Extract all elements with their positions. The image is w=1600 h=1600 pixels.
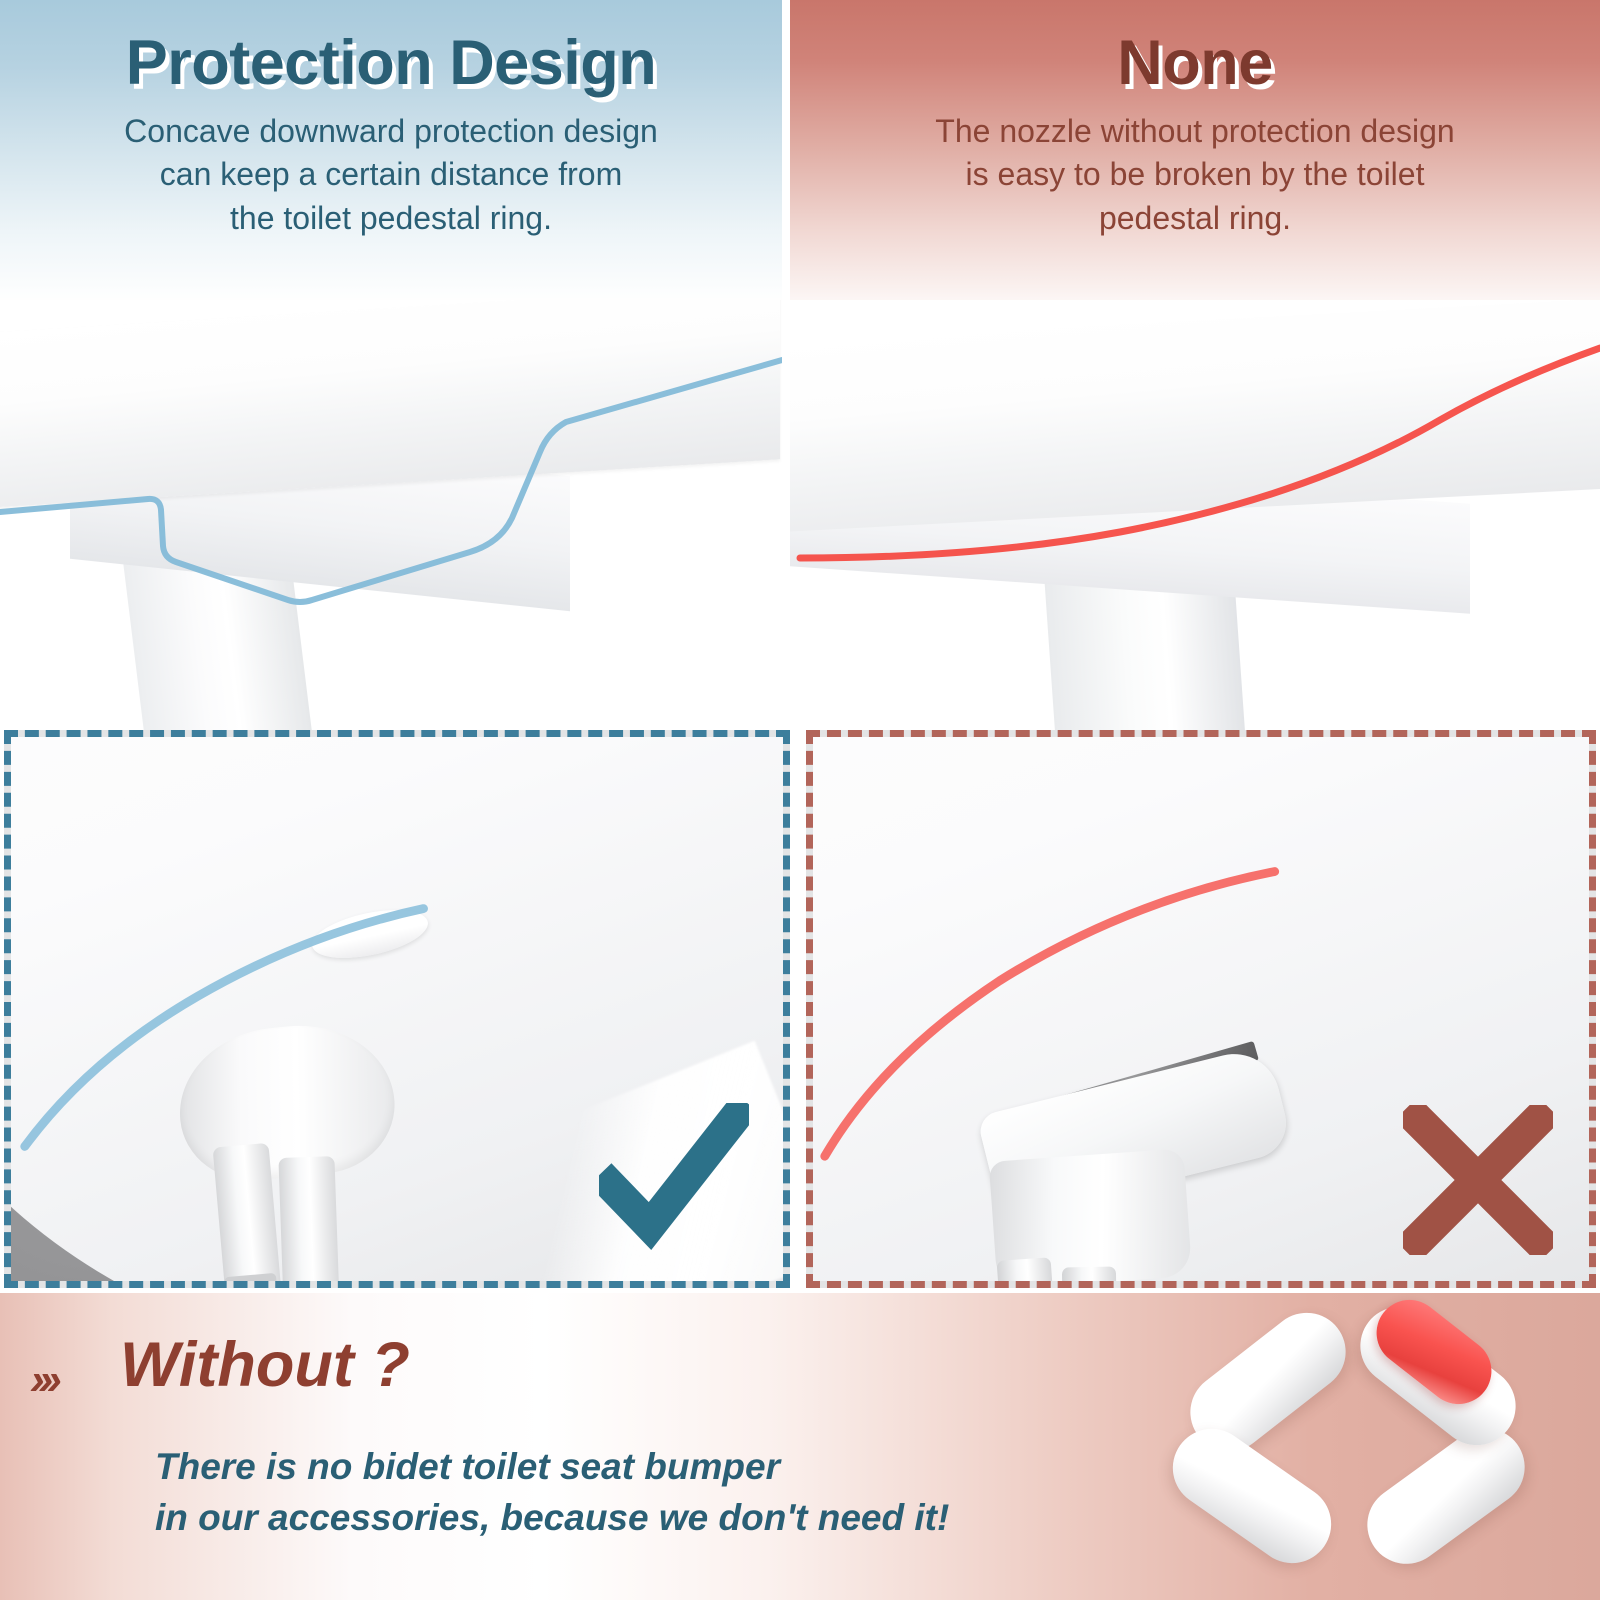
blue-notch-outline-icon [0, 300, 782, 730]
bottom-heading: Without ? [120, 1329, 410, 1401]
page-title-none: None [790, 30, 1600, 96]
detail-panel-with-protection [4, 730, 790, 1288]
header-row: Protection Design Concave downward prote… [0, 0, 1600, 305]
photo-seat-flat-red [790, 300, 1600, 730]
photo-seat-notch-blue [0, 300, 782, 730]
infographic-page: Protection Design Concave downward prote… [0, 0, 1600, 1600]
header-subtitle-line: Concave downward protection design [0, 110, 782, 153]
detail-comparison-row [0, 730, 1600, 1288]
header-panel-none: None The nozzle without protection desig… [790, 0, 1600, 305]
chevron-right-icon: ››› [30, 1355, 56, 1405]
red-edge-outline-icon [790, 300, 1600, 730]
header-subtitle-line: The nozzle without protection design [790, 110, 1600, 153]
bottom-body-line: in our accessories, because we don't nee… [155, 1492, 949, 1543]
header-subtitle-line: the toilet pedestal ring. [0, 197, 782, 240]
nozzle-tip-shape [287, 1284, 340, 1288]
product-photo-row [0, 300, 1600, 730]
page-title-protection-design: Protection Design [0, 30, 782, 96]
header-subtitle-line: pedestal ring. [790, 197, 1600, 240]
bumper-pads-cluster [1158, 1307, 1558, 1597]
bumper-pad [1352, 1413, 1540, 1580]
bottom-body-line: There is no bidet toilet seat bumper [155, 1441, 949, 1492]
header-subtitle-none: The nozzle without protection design is … [790, 110, 1600, 240]
bottom-body-text: There is no bidet toilet seat bumper in … [155, 1441, 949, 1543]
bottom-banner: ››› Without ? There is no bidet toilet s… [0, 1293, 1600, 1600]
header-subtitle-protection-design: Concave downward protection design can k… [0, 110, 782, 240]
check-icon [599, 1103, 749, 1253]
header-panel-protection-design: Protection Design Concave downward prote… [0, 0, 782, 305]
cross-icon [1403, 1105, 1553, 1255]
detail-panel-without-protection [806, 730, 1596, 1288]
header-subtitle-line: can keep a certain distance from [0, 153, 782, 196]
header-subtitle-line: is easy to be broken by the toilet [790, 153, 1600, 196]
